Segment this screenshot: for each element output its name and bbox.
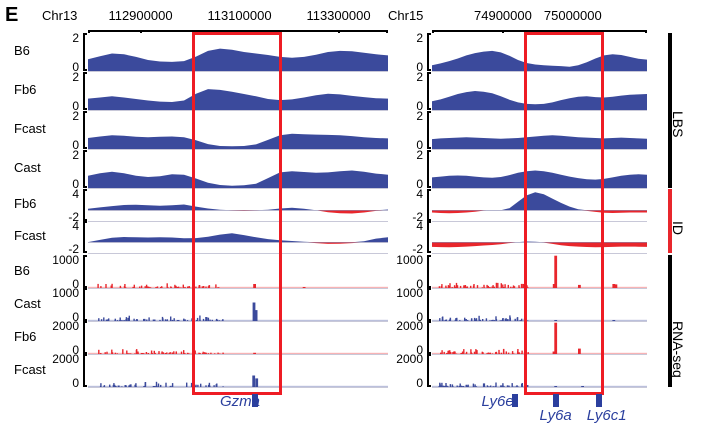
row-label-rna-cast: Cast xyxy=(14,296,41,311)
chromosome-label-right: Chr15 xyxy=(388,8,423,23)
y-tick-right-rna-fb6-max: 2000 xyxy=(396,319,425,333)
axis-line-right xyxy=(432,30,647,32)
y-axis-bracket-id-fcast xyxy=(83,221,87,253)
gene-label-ly6a: Ly6a xyxy=(540,407,572,424)
track-baseline-rna-b6-left xyxy=(88,288,388,289)
y-axis-bracket-rna-b6 xyxy=(83,255,87,288)
y-tick-right-rna-fcast-min: 0 xyxy=(416,376,425,390)
track-baseline-lbs-fb6-right xyxy=(432,110,647,111)
y-axis-bracket-id-fb6 xyxy=(83,189,87,221)
y-tick-id-fcast-max: 4 xyxy=(72,219,81,233)
track-left-lbs-fb6 xyxy=(88,72,388,110)
track-right-lbs-cast xyxy=(432,150,647,188)
track-baseline-id-fb6-left xyxy=(88,221,388,222)
row-label-rna-fcast: Fcast xyxy=(14,362,46,377)
track-baseline-lbs-b6-left xyxy=(88,71,388,72)
y-tick-right-rna-b6-max: 1000 xyxy=(396,253,425,267)
track-baseline-lbs-cast-left xyxy=(88,188,388,189)
y-tick-lbs-fb6-max: 2 xyxy=(72,70,81,84)
section-label-id: ID xyxy=(670,221,686,235)
track-baseline-rna-fb6-right xyxy=(432,354,647,355)
track-right-lbs-fb6 xyxy=(432,72,647,110)
section-label-rnaseq: RNA-seq xyxy=(670,321,686,378)
row-label-lbs-fb6: Fb6 xyxy=(14,82,36,97)
y-tick-right-id-fb6-max: 4 xyxy=(416,187,425,201)
track-left-rna-cast xyxy=(88,288,388,321)
y-axis-bracket-right-rna-b6 xyxy=(427,255,431,288)
y-axis-bracket-right-lbs-b6 xyxy=(427,33,431,71)
axis-tick-label-right-0: 74900000 xyxy=(474,8,532,23)
track-baseline-rna-fb6-left xyxy=(88,354,388,355)
y-axis-bracket-rna-fcast xyxy=(83,354,87,387)
y-axis-bracket-lbs-fb6 xyxy=(83,72,87,110)
gene-mark-ly6c1 xyxy=(596,394,602,407)
row-label-id-fb6: Fb6 xyxy=(14,196,36,211)
chromosome-label-left: Chr13 xyxy=(42,8,77,23)
y-tick-rna-fcast-min: 0 xyxy=(72,376,81,390)
track-baseline-rna-b6-right xyxy=(432,288,647,289)
y-axis-bracket-right-id-fb6 xyxy=(427,189,431,221)
row-label-lbs-fcast: Fcast xyxy=(14,121,46,136)
track-right-rna-b6 xyxy=(432,255,647,288)
panel-letter: E xyxy=(5,4,18,27)
y-tick-rna-fb6-max: 2000 xyxy=(52,319,81,333)
row-label-rna-fb6: Fb6 xyxy=(14,329,36,344)
y-tick-right-rna-cast-max: 1000 xyxy=(396,286,425,300)
section-label-lbs: LBS xyxy=(670,111,686,137)
y-axis-bracket-right-lbs-cast xyxy=(427,150,431,188)
track-left-rna-fcast xyxy=(88,354,388,387)
y-tick-rna-fcast-max: 2000 xyxy=(52,352,81,366)
row-label-id-fcast: Fcast xyxy=(14,228,46,243)
y-axis-bracket-rna-fb6 xyxy=(83,321,87,354)
y-axis-bracket-lbs-fcast xyxy=(83,111,87,149)
gene-label-ly6c1: Ly6c1 xyxy=(587,407,627,424)
track-baseline-lbs-cast-right xyxy=(432,188,647,189)
gene-mark-ly6a xyxy=(553,394,559,407)
track-right-rna-fcast xyxy=(432,354,647,387)
y-tick-right-lbs-cast-max: 2 xyxy=(416,148,425,162)
axis-tick-label-left-0: 112900000 xyxy=(108,8,172,23)
y-tick-right-id-fcast-max: 4 xyxy=(416,219,425,233)
y-tick-rna-cast-max: 1000 xyxy=(52,286,81,300)
y-axis-bracket-lbs-b6 xyxy=(83,33,87,71)
y-axis-bracket-right-id-fcast xyxy=(427,221,431,253)
gene-label-ly6e: Ly6e xyxy=(481,393,513,410)
track-left-rna-fb6 xyxy=(88,321,388,354)
y-tick-right-lbs-fcast-max: 2 xyxy=(416,109,425,123)
track-left-rna-b6 xyxy=(88,255,388,288)
y-axis-bracket-rna-cast xyxy=(83,288,87,321)
y-tick-id-fb6-max: 4 xyxy=(72,187,81,201)
track-baseline-rna-cast-right xyxy=(432,321,647,322)
track-baseline-lbs-b6-right xyxy=(432,71,647,72)
track-left-lbs-b6 xyxy=(88,33,388,71)
track-baseline-rna-fcast-left xyxy=(88,387,388,388)
y-tick-right-lbs-fb6-max: 2 xyxy=(416,70,425,84)
track-left-lbs-cast xyxy=(88,150,388,188)
track-left-id-fb6 xyxy=(88,189,388,221)
track-baseline-lbs-fb6-left xyxy=(88,110,388,111)
gene-label-gzma: Gzma xyxy=(220,393,260,410)
y-tick-lbs-cast-max: 2 xyxy=(72,148,81,162)
track-baseline-id-fcast-left xyxy=(88,253,388,254)
axis-tick-label-right-1: 75000000 xyxy=(544,8,602,23)
row-label-lbs-cast: Cast xyxy=(14,160,41,175)
y-axis-bracket-right-lbs-fcast xyxy=(427,111,431,149)
track-right-lbs-b6 xyxy=(432,33,647,71)
track-left-id-fcast xyxy=(88,221,388,253)
y-tick-right-rna-fcast-max: 2000 xyxy=(396,352,425,366)
y-tick-lbs-fcast-max: 2 xyxy=(72,109,81,123)
y-tick-lbs-b6-max: 2 xyxy=(72,31,81,45)
y-tick-rna-b6-max: 1000 xyxy=(52,253,81,267)
track-right-lbs-fcast xyxy=(432,111,647,149)
track-baseline-lbs-fcast-left xyxy=(88,149,388,150)
track-right-id-fcast xyxy=(432,221,647,253)
axis-tick-label-left-1: 113100000 xyxy=(207,8,271,23)
y-axis-bracket-right-rna-cast xyxy=(427,288,431,321)
track-right-id-fb6 xyxy=(432,189,647,221)
track-baseline-rna-cast-left xyxy=(88,321,388,322)
y-axis-bracket-lbs-cast xyxy=(83,150,87,188)
y-tick-right-lbs-b6-max: 2 xyxy=(416,31,425,45)
track-left-lbs-fcast xyxy=(88,111,388,149)
y-axis-bracket-right-rna-fb6 xyxy=(427,321,431,354)
axis-tick-label-left-2: 113300000 xyxy=(306,8,370,23)
row-label-rna-b6: B6 xyxy=(14,263,30,278)
track-baseline-id-fb6-right xyxy=(432,221,647,222)
track-baseline-id-fcast-right xyxy=(432,253,647,254)
y-axis-bracket-right-rna-fcast xyxy=(427,354,431,387)
y-axis-bracket-right-lbs-fb6 xyxy=(427,72,431,110)
row-label-lbs-b6: B6 xyxy=(14,43,30,58)
track-baseline-rna-fcast-right xyxy=(432,387,647,388)
track-right-rna-cast xyxy=(432,288,647,321)
track-right-rna-fb6 xyxy=(432,321,647,354)
track-baseline-lbs-fcast-right xyxy=(432,149,647,150)
